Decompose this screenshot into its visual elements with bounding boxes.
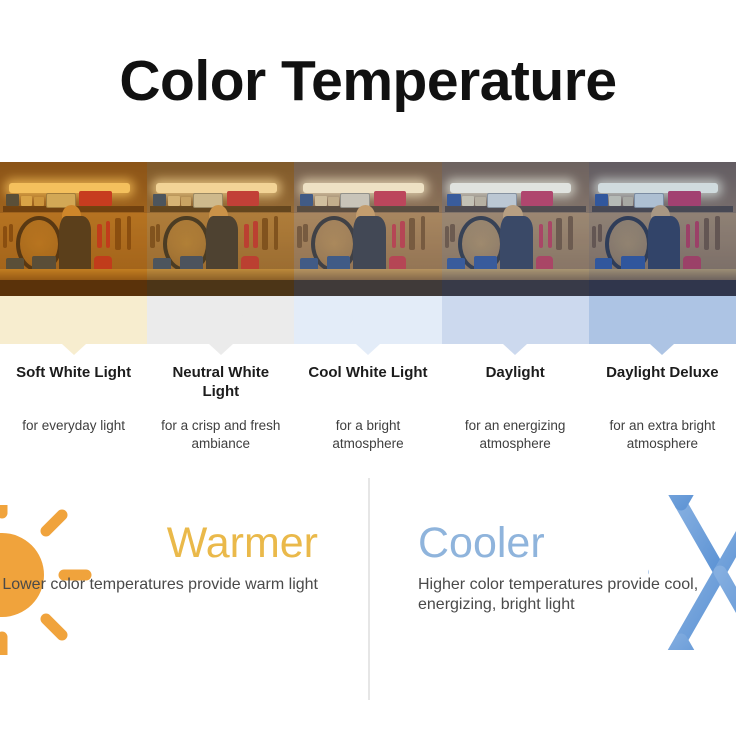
kelvin-label: 5000K	[492, 312, 538, 329]
description-cell: Soft White Light for everyday light	[0, 364, 147, 453]
light-type-name: Neutral White Light	[155, 364, 286, 404]
photo-cell	[442, 162, 589, 296]
kelvin-label: 6500K	[639, 312, 685, 329]
kelvin-swatch: 3000K	[0, 296, 147, 344]
light-type-name: Cool White Light	[302, 364, 433, 404]
swatch-pointer	[503, 344, 527, 355]
warmer-heading: Warmer	[0, 520, 318, 567]
page-title: Color Temperature	[0, 52, 736, 112]
kelvin-swatch-bar: 3000K 3500K 4000K 5000K 6500K	[0, 296, 736, 344]
description-cell: Neutral White Light for a crisp and fres…	[147, 364, 294, 453]
swatch-pointer	[209, 344, 233, 355]
cooler-heading: Cooler	[418, 520, 736, 567]
light-type-name: Daylight	[450, 364, 581, 404]
description-cell: Daylight Deluxe for an extra bright atmo…	[589, 364, 736, 453]
cooler-block: Cooler Higher color temperatures provide…	[396, 520, 736, 616]
light-type-description: for an energizing atmosphere	[450, 417, 581, 453]
photo-wash	[589, 162, 736, 296]
kelvin-swatch: 6500K	[589, 296, 736, 344]
light-type-description: for a crisp and fresh ambiance	[155, 417, 286, 453]
photo-cell	[294, 162, 441, 296]
kelvin-label: 4000K	[345, 312, 391, 329]
swatch-pointer	[62, 344, 86, 355]
photo-wash	[294, 162, 441, 296]
section-divider	[368, 478, 370, 700]
kelvin-label: 3000K	[51, 312, 97, 329]
swatch-pointer	[650, 344, 674, 355]
cooler-body: Higher color temperatures provide cool, …	[418, 575, 736, 615]
kelvin-label: 3500K	[198, 312, 244, 329]
warmer-body: Lower color temperatures provide warm li…	[0, 575, 318, 595]
kelvin-swatch: 5000K	[442, 296, 589, 344]
swatch-pointer	[356, 344, 380, 355]
photo-cell	[0, 162, 147, 296]
photo-wash	[0, 162, 147, 296]
light-type-description: for everyday light	[8, 417, 139, 435]
photo-comparison-strip	[0, 162, 736, 296]
kelvin-swatch: 4000K	[294, 296, 441, 344]
kelvin-swatch: 3500K	[147, 296, 294, 344]
photo-wash	[442, 162, 589, 296]
light-type-name: Daylight Deluxe	[597, 364, 728, 404]
light-type-name: Soft White Light	[8, 364, 139, 404]
infographic-root: Color Temperature	[0, 0, 736, 736]
description-row: Soft White Light for everyday light Neut…	[0, 364, 736, 453]
photo-wash	[147, 162, 294, 296]
warmer-block: Warmer Lower color temperatures provide …	[0, 520, 340, 595]
light-type-description: for an extra bright atmosphere	[597, 417, 728, 453]
description-cell: Daylight for an energizing atmosphere	[442, 364, 589, 453]
description-cell: Cool White Light for a bright atmosphere	[294, 364, 441, 453]
light-type-description: for a bright atmosphere	[302, 417, 433, 453]
photo-cell	[589, 162, 736, 296]
photo-cell	[147, 162, 294, 296]
